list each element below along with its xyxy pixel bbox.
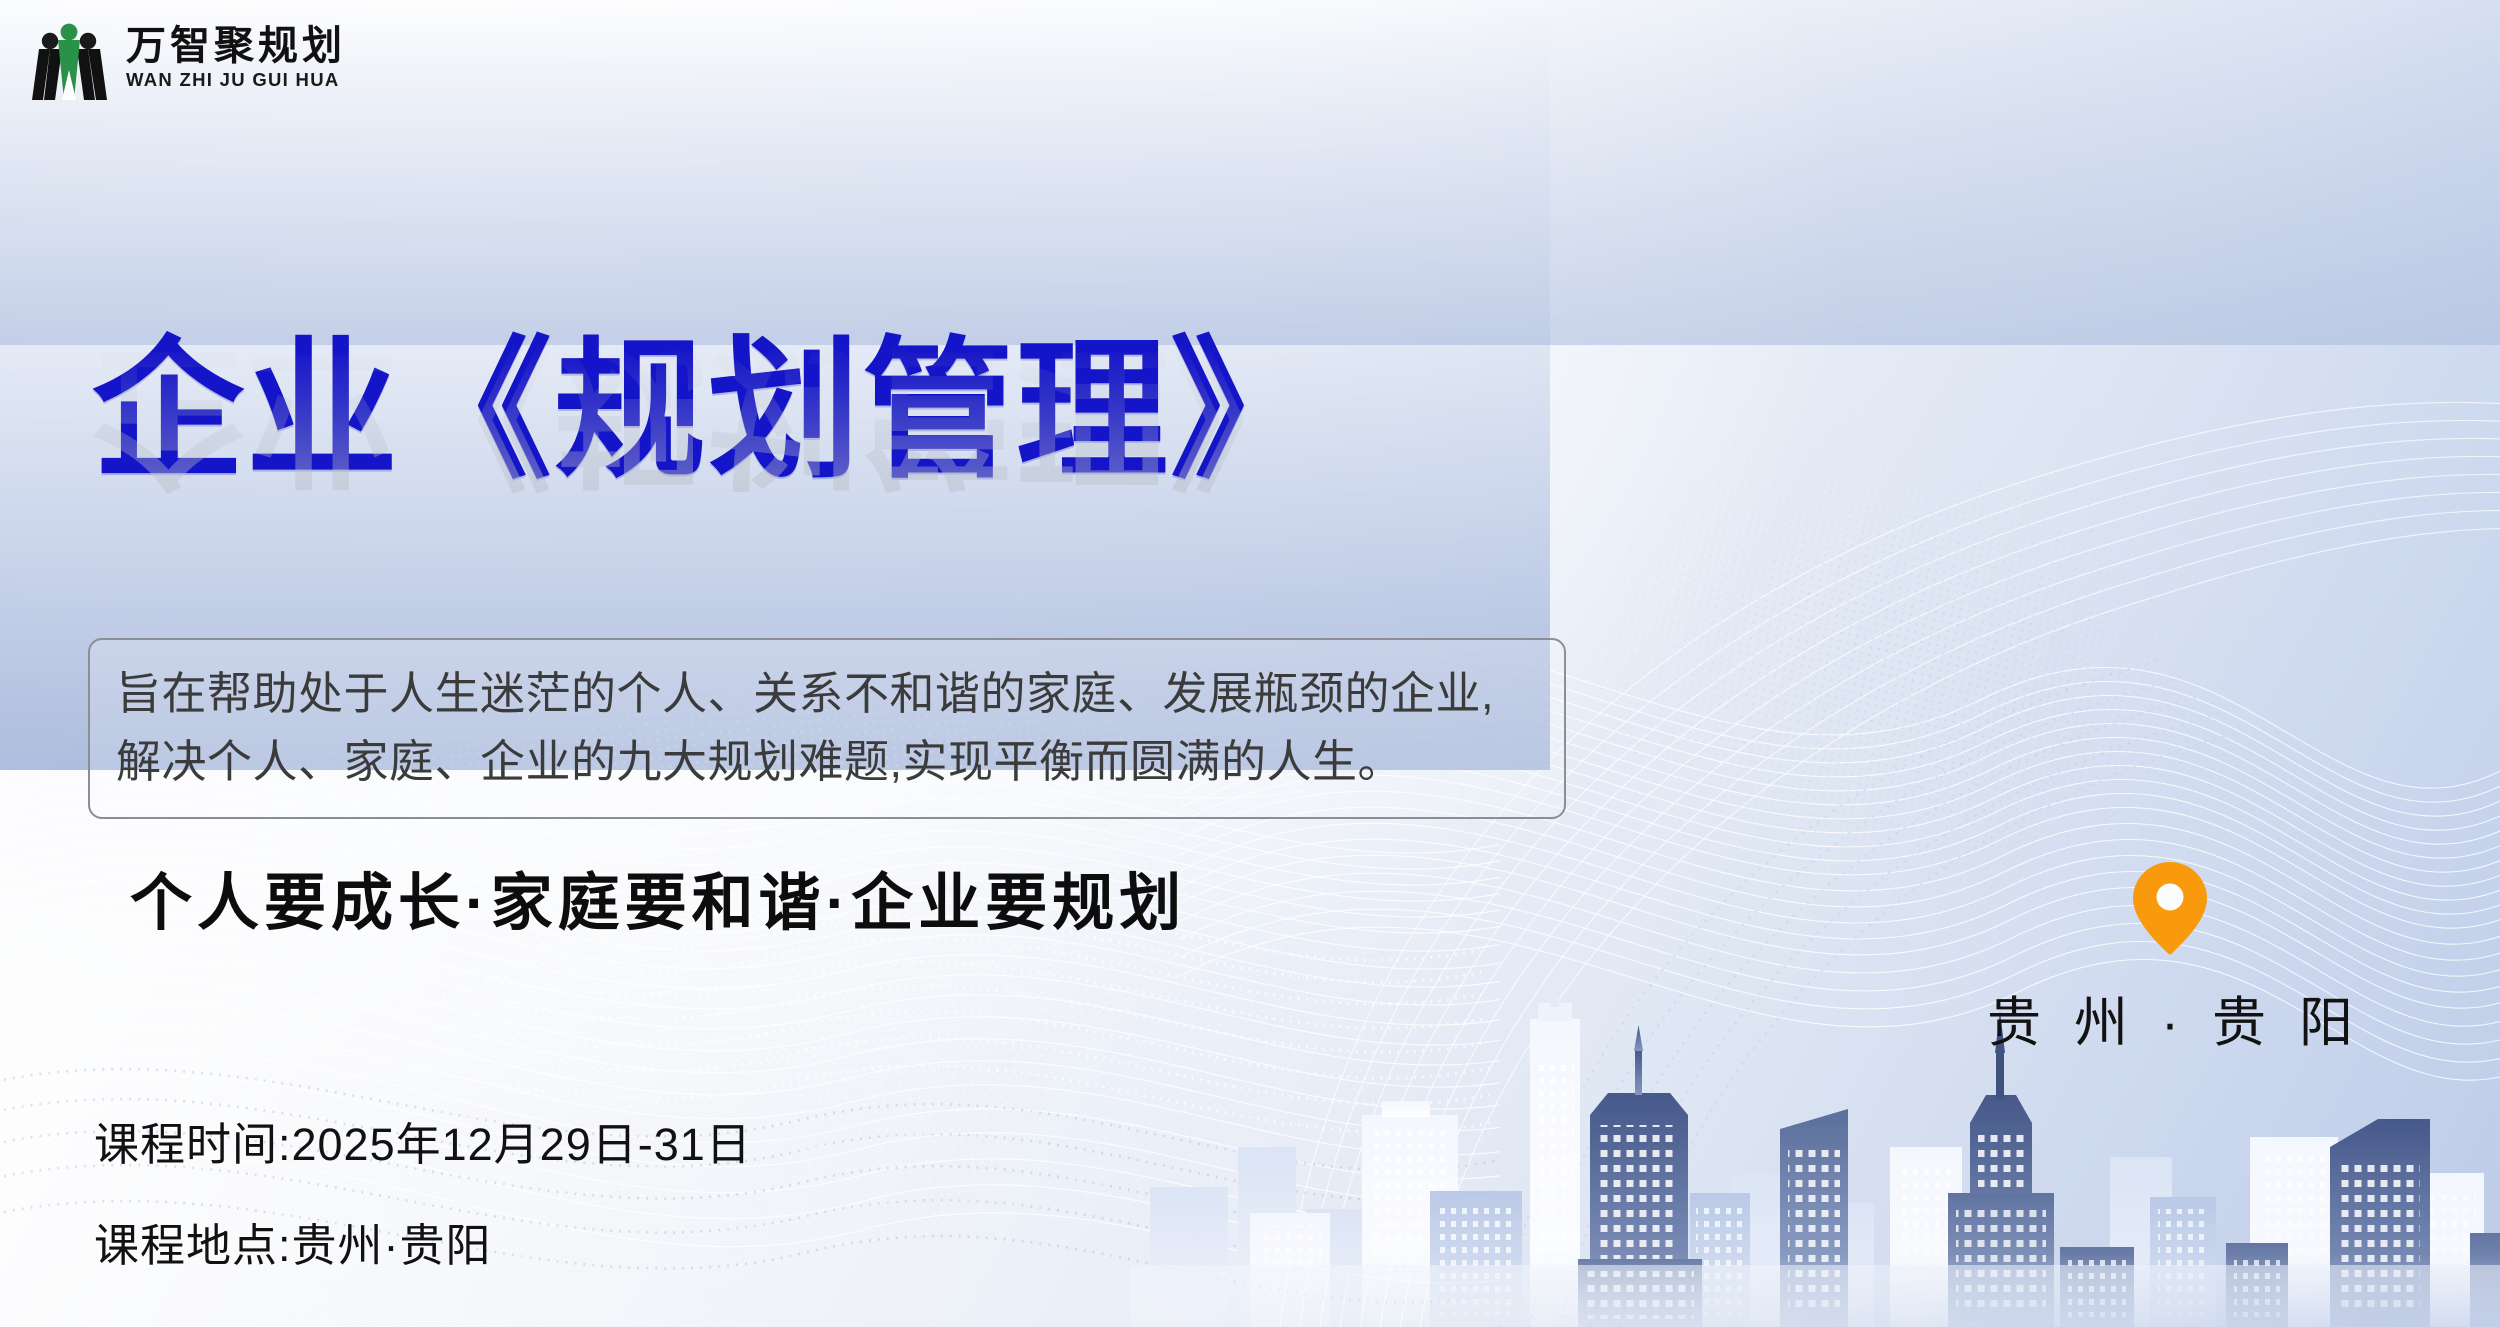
location-badge: 贵 州 · 贵 阳 (1960, 860, 2380, 1057)
description-line-2: 解决个人、家庭、企业的九大规划难题,实现平衡而圆满的人生。 (116, 728, 1538, 796)
three-people-logo-icon (30, 14, 108, 102)
course-info-block: 课程时间:2025年12月29日-31日 课程地点:贵州·贵阳 (94, 1108, 752, 1274)
description-line-1: 旨在帮助处于人生迷茫的个人、关系不和谐的家庭、发展瓶颈的企业, (116, 660, 1538, 728)
description-box: 旨在帮助处于人生迷茫的个人、关系不和谐的家庭、发展瓶颈的企业, 解决个人、家庭、… (88, 638, 1566, 819)
brand-name-en: WAN ZHI JU GUI HUA (126, 69, 346, 91)
brand-name-cn: 万智聚规划 (126, 25, 346, 67)
course-time-row: 课程时间:2025年12月29日-31日 (94, 1108, 752, 1173)
course-place-row: 课程地点:贵州·贵阳 (94, 1209, 752, 1274)
location-label: 贵 州 · 贵 阳 (1978, 978, 2362, 1057)
hero-title-block: 企业《规划管理》 企业《规划管理》 (92, 330, 1324, 657)
page-title-reflection: 企业《规划管理》 (92, 332, 1324, 495)
map-pin-icon (2131, 860, 2209, 956)
brand-logo[interactable]: 万智聚规划 WAN ZHI JU GUI HUA (30, 14, 346, 102)
brand-wordmark: 万智聚规划 WAN ZHI JU GUI HUA (126, 25, 346, 91)
tagline: 个人要成长·家庭要和谐·企业要规划 (130, 852, 1186, 942)
poster-canvas: 万智聚规划 WAN ZHI JU GUI HUA 企业《规划管理》 企业《规划管… (0, 0, 2500, 1327)
